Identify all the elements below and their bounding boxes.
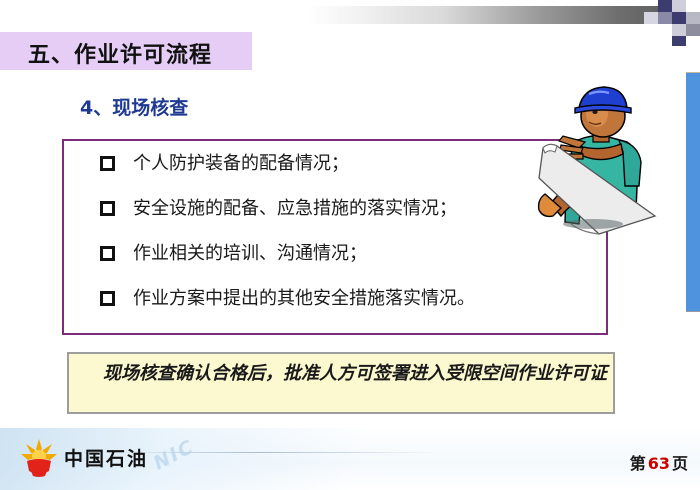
page-number: 63 bbox=[646, 454, 672, 473]
worker-illustration bbox=[505, 82, 665, 257]
checker-square bbox=[658, 24, 672, 36]
checker-square bbox=[672, 0, 686, 12]
checker-square bbox=[686, 12, 700, 24]
top-gradient-bar bbox=[307, 6, 670, 24]
checker-square bbox=[686, 24, 700, 36]
checker-square bbox=[672, 24, 686, 36]
company-name: 中国石油 bbox=[64, 444, 148, 471]
note-text: 现场核查确认合格后，批准人方可签署进入受限空间作业许可证 bbox=[75, 360, 609, 388]
page-prefix: 第 bbox=[630, 454, 646, 473]
slide: 五、作业许可流程 4、现场核查 个人防护装备的配备情况； 安全设施的配备、应急措… bbox=[0, 0, 700, 490]
checker-square bbox=[658, 12, 672, 24]
list-item-label: 作业方案中提出的其他安全措施落实情况。 bbox=[133, 285, 475, 312]
petrochina-logo-icon bbox=[18, 437, 60, 479]
list-item: 作业方案中提出的其他安全措施落实情况。 bbox=[100, 285, 620, 330]
section-subtitle: 4、现场核查 bbox=[80, 93, 188, 120]
hollow-square-icon bbox=[100, 291, 115, 306]
hollow-square-icon bbox=[100, 156, 115, 171]
list-item-label: 个人防护装备的配备情况； bbox=[133, 150, 349, 177]
hollow-square-icon bbox=[100, 246, 115, 261]
checker-square bbox=[658, 0, 672, 12]
list-item-label: 作业相关的培训、沟通情况； bbox=[133, 240, 367, 267]
checker-square bbox=[644, 12, 658, 24]
page-suffix: 页 bbox=[672, 454, 688, 473]
hollow-square-icon bbox=[100, 201, 115, 216]
checker-square bbox=[672, 12, 686, 24]
list-item-label: 安全设施的配备、应急措施的落实情况； bbox=[133, 195, 457, 222]
blue-vertical-bar bbox=[686, 72, 700, 312]
page-indicator: 第63页 bbox=[630, 450, 688, 474]
checker-square bbox=[686, 0, 700, 12]
page-title: 五、作业许可流程 bbox=[28, 37, 212, 69]
checker-square bbox=[672, 36, 686, 46]
